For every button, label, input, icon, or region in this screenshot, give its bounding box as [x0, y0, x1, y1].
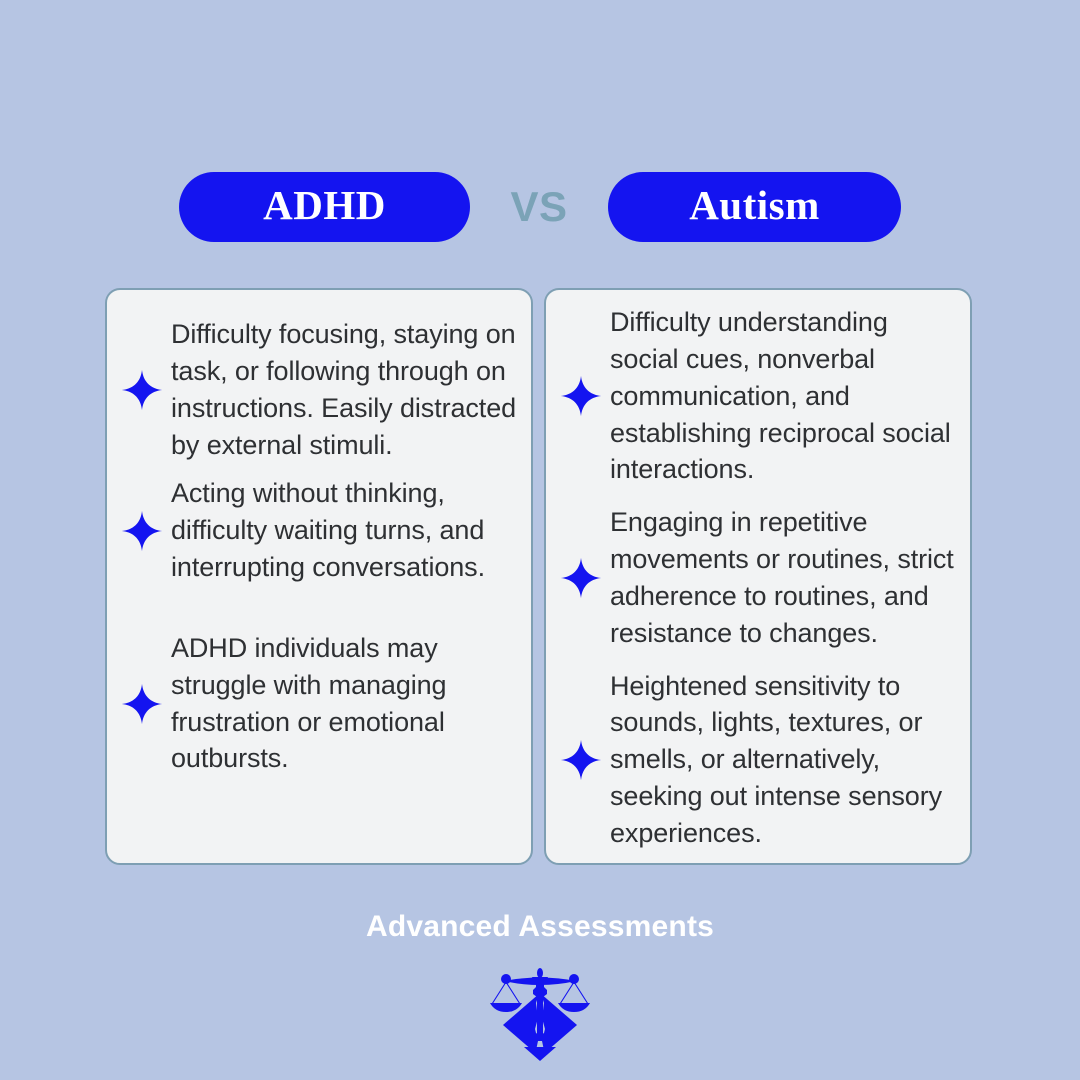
- sparkle-icon: [121, 369, 163, 411]
- list-item-text: Difficulty focusing, staying on task, or…: [171, 316, 517, 463]
- comparison-cards: Difficulty focusing, staying on task, or…: [105, 288, 972, 865]
- list-item-text: ADHD individuals may struggle with manag…: [171, 630, 517, 777]
- list-item-text: Acting without thinking, difficulty wait…: [171, 475, 517, 586]
- sparkle-icon: [560, 375, 602, 417]
- list-item-text: Heightened sensitivity to sounds, lights…: [610, 668, 956, 852]
- sparkle-icon: [121, 683, 163, 725]
- brand-name: Advanced Assessments: [366, 910, 714, 944]
- comparison-header: ADHD VS Autism: [0, 172, 1080, 242]
- sparkle-icon: [560, 557, 602, 599]
- list-item-text: Engaging in repetitive movements or rout…: [610, 504, 956, 651]
- autism-title-label: Autism: [689, 185, 820, 226]
- adhd-title-pill[interactable]: ADHD: [179, 172, 470, 242]
- adhd-card: Difficulty focusing, staying on task, or…: [105, 288, 533, 865]
- sparkle-icon: [560, 739, 602, 781]
- adhd-title-label: ADHD: [263, 185, 386, 226]
- autism-card: Difficulty understanding social cues, no…: [544, 288, 972, 865]
- list-item: Acting without thinking, difficulty wait…: [121, 475, 517, 586]
- sparkle-icon: [121, 510, 163, 552]
- scales-of-justice-icon: [482, 963, 598, 1063]
- versus-label: VS: [470, 183, 608, 231]
- list-item: Difficulty focusing, staying on task, or…: [121, 316, 517, 463]
- list-item-text: Difficulty understanding social cues, no…: [610, 304, 956, 488]
- footer-branding: Advanced Assessments: [0, 910, 1080, 1063]
- list-item: ADHD individuals may struggle with manag…: [121, 630, 517, 777]
- autism-title-pill[interactable]: Autism: [608, 172, 901, 242]
- list-item: Heightened sensitivity to sounds, lights…: [560, 668, 956, 852]
- list-item: Difficulty understanding social cues, no…: [560, 304, 956, 488]
- list-item: Engaging in repetitive movements or rout…: [560, 504, 956, 651]
